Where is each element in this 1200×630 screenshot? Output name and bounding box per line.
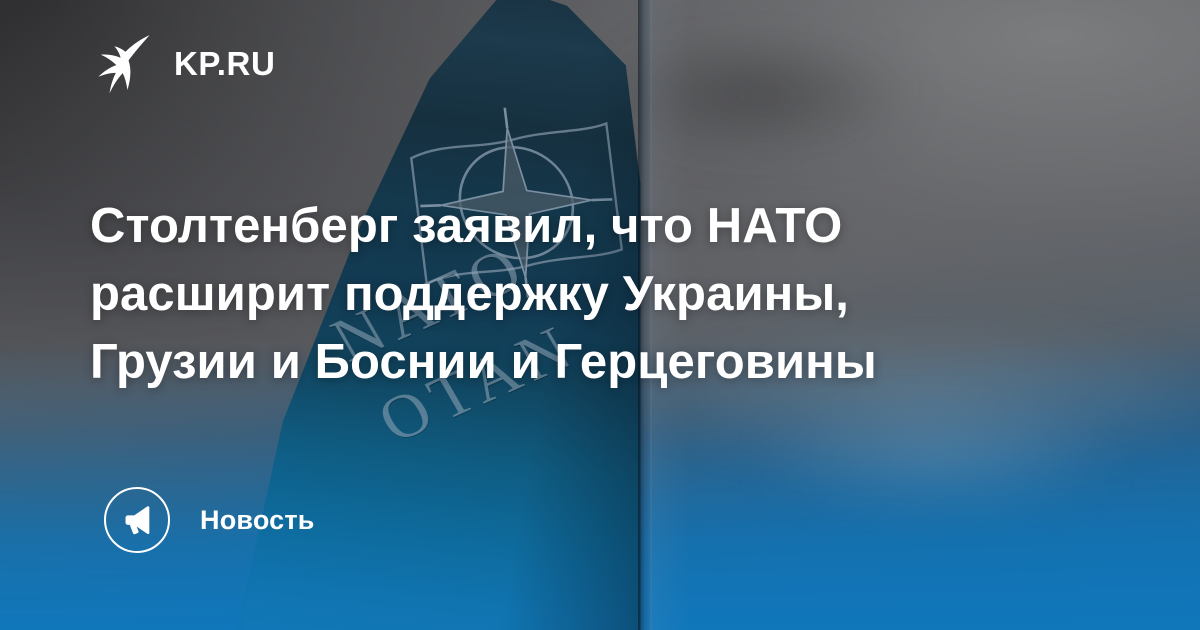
headline-line-3: Грузии и Боснии и Герцеговины	[90, 328, 1100, 396]
brand-name: KP.RU	[174, 45, 275, 83]
headline-line-1: Столтенберг заявил, что НАТО	[90, 192, 1100, 260]
page-title: Столтенберг заявил, что НАТО расширит по…	[90, 192, 1100, 396]
card-content: KP.RU Столтенберг заявил, что НАТО расши…	[0, 0, 1200, 630]
swallow-bird-icon	[90, 33, 152, 95]
share-card: NATO OTAN KP.RU Столтенберг заявил, что …	[0, 0, 1200, 630]
rubric-label: Новость	[200, 505, 315, 536]
headline-line-2: расширит поддержку Украины,	[90, 260, 1100, 328]
megaphone-icon	[104, 487, 170, 553]
brand-logo[interactable]: KP.RU	[90, 33, 275, 95]
rubric-badge[interactable]: Новость	[104, 487, 315, 553]
